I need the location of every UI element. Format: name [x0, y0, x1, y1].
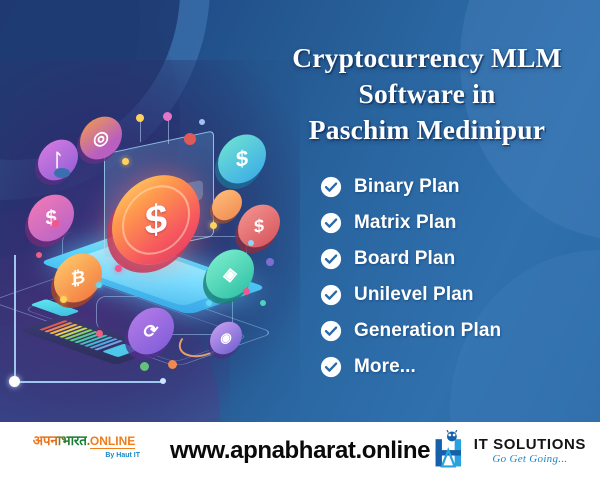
check-circle-icon	[320, 248, 342, 270]
feature-label: More...	[354, 356, 416, 378]
network-node	[115, 265, 122, 272]
feature-label: Board Plan	[354, 248, 455, 270]
floating-dot	[136, 114, 144, 122]
list-item: Board Plan	[320, 242, 501, 275]
list-item: Unilevel Plan	[320, 278, 501, 311]
floating-dot	[54, 168, 70, 178]
floating-dot	[260, 300, 266, 306]
it-solutions-tagline: Go Get Going...	[474, 454, 586, 465]
axis-node-dot	[160, 378, 166, 384]
floating-pin	[168, 118, 169, 144]
list-item: Matrix Plan	[320, 206, 501, 239]
feature-label: Generation Plan	[354, 320, 501, 342]
floating-dot	[140, 362, 149, 371]
floating-pin	[140, 120, 141, 142]
list-item: Generation Plan	[320, 314, 501, 347]
check-circle-icon	[320, 212, 342, 234]
floating-dot	[96, 330, 103, 337]
network-node	[206, 300, 212, 306]
it-solutions-title: IT SOLUTIONS	[474, 437, 586, 452]
floating-dot	[199, 119, 205, 125]
promotional-banner: ᛚ ◎ $ $ $ ₿ ◈ ⟳ ◉ $	[0, 0, 600, 480]
feature-label: Matrix Plan	[354, 212, 456, 234]
floating-dot	[248, 240, 254, 246]
footer-bar: अपनाभारत.ONLINE By Haut IT www.apnabhara…	[0, 422, 600, 480]
floating-dot	[36, 252, 42, 258]
title-line-3: Paschim Medinipur	[268, 112, 586, 148]
floating-dot	[163, 112, 172, 121]
network-node	[122, 158, 129, 165]
axis-line-vertical	[14, 255, 16, 383]
feature-label: Binary Plan	[354, 176, 460, 198]
floating-dot	[168, 360, 177, 369]
network-node	[60, 296, 67, 303]
floating-dot	[266, 258, 274, 266]
list-item: Binary Plan	[320, 170, 501, 203]
axis-line-horizontal	[14, 381, 164, 383]
feature-label: Unilevel Plan	[354, 284, 474, 306]
title-line-2: Software in	[268, 76, 586, 112]
feature-list: Binary Plan Matrix Plan Board Plan	[320, 170, 501, 386]
check-circle-icon	[320, 356, 342, 378]
crypto-illustration: ᛚ ◎ $ $ $ ₿ ◈ ⟳ ◉ $	[0, 0, 300, 422]
it-solutions-logo[interactable]: IT SOLUTIONS Go Get Going...	[431, 430, 586, 472]
it-solutions-text: IT SOLUTIONS Go Get Going...	[474, 437, 586, 465]
list-item: More...	[320, 350, 501, 383]
network-node	[52, 220, 59, 227]
floating-dot	[184, 133, 196, 145]
page-title: Cryptocurrency MLM Software in Paschim M…	[268, 40, 586, 147]
h-monogram-icon	[431, 430, 471, 472]
banner-panel: ᛚ ◎ $ $ $ ₿ ◈ ⟳ ◉ $	[0, 0, 600, 422]
floating-dot	[243, 288, 250, 295]
network-node	[210, 222, 217, 229]
check-circle-icon	[320, 320, 342, 342]
check-circle-icon	[320, 176, 342, 198]
axis-node-dot	[9, 376, 20, 387]
check-circle-icon	[320, 284, 342, 306]
title-line-1: Cryptocurrency MLM	[268, 40, 586, 76]
network-node	[96, 282, 102, 288]
